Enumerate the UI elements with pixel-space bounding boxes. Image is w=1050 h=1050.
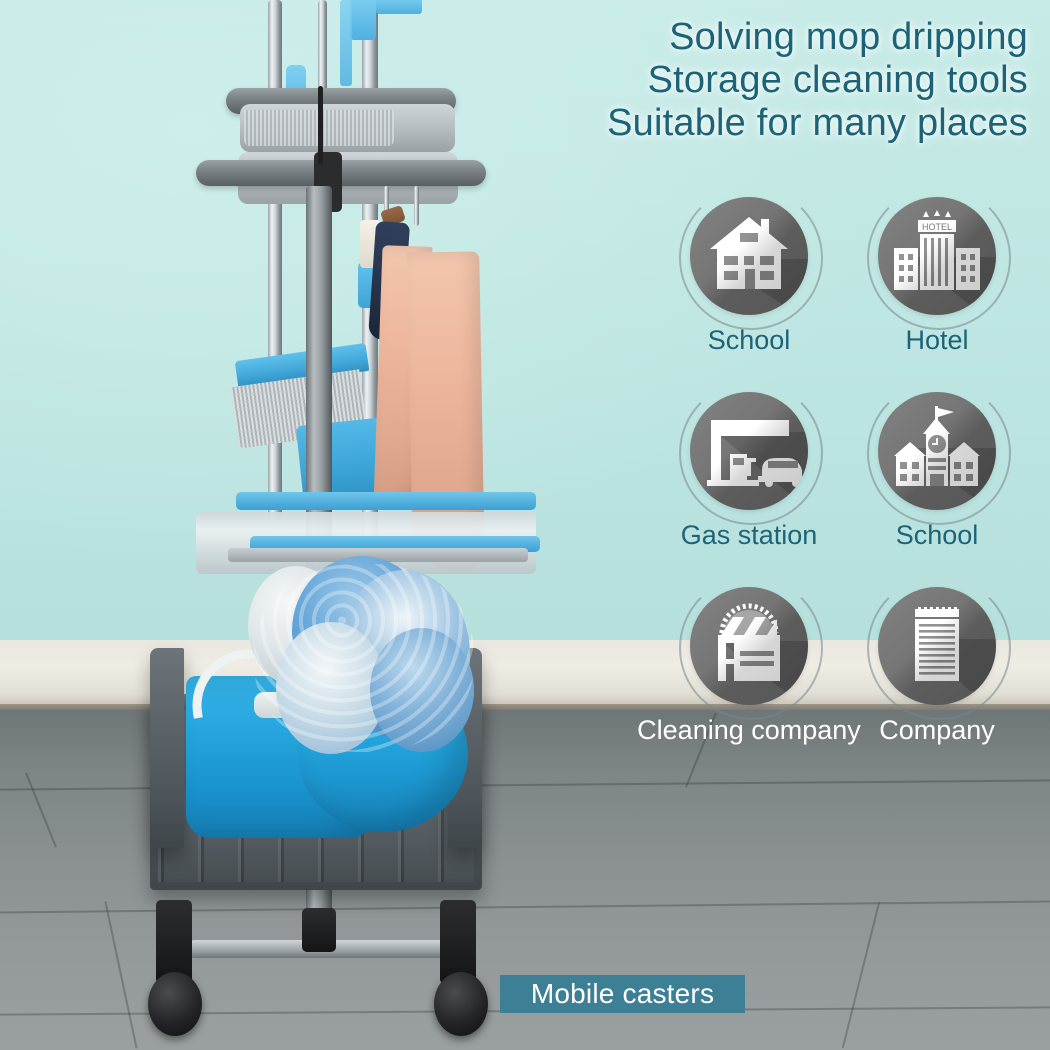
floor-seam bbox=[842, 902, 880, 1048]
hanging-tool-top bbox=[350, 0, 376, 40]
cleaning-cart-photo bbox=[0, 0, 600, 1050]
hanging-tool-head bbox=[376, 0, 422, 14]
caster-wheel-right bbox=[434, 972, 488, 1036]
mop-strand-texture bbox=[254, 564, 474, 752]
headline-line-3: Suitable for many places bbox=[558, 102, 1028, 145]
headline-line-1: Solving mop dripping bbox=[558, 16, 1028, 59]
product-infographic: Solving mop dripping Storage cleaning to… bbox=[0, 0, 1050, 1050]
headline-line-2: Storage cleaning tools bbox=[558, 59, 1028, 102]
hanging-tool-strip bbox=[340, 0, 352, 86]
mop-pad-blue-1 bbox=[236, 492, 536, 510]
mobile-casters-label: Mobile casters bbox=[500, 975, 745, 1013]
page-title: Solving mop dripping Storage cleaning to… bbox=[558, 16, 1028, 145]
cart-crate-wall-left bbox=[150, 648, 184, 848]
cart-hook-2 bbox=[414, 186, 419, 226]
caster-wheel-left bbox=[148, 972, 202, 1036]
circle-ring bbox=[679, 576, 823, 720]
use-case-label: School bbox=[817, 520, 1050, 551]
caster-leg-center bbox=[302, 908, 336, 952]
circle-ring bbox=[679, 381, 823, 525]
use-case-label: Hotel bbox=[817, 325, 1050, 356]
circle-ring bbox=[679, 186, 823, 330]
chenille-mop-head bbox=[230, 556, 480, 756]
mobile-casters-callout: Mobile casters bbox=[500, 975, 745, 1013]
circle-ring bbox=[867, 576, 1011, 720]
cart-hook-wire bbox=[318, 86, 323, 164]
circle-ring bbox=[867, 381, 1011, 525]
circle-ring bbox=[867, 186, 1011, 330]
use-case-label: Company bbox=[817, 715, 1050, 746]
